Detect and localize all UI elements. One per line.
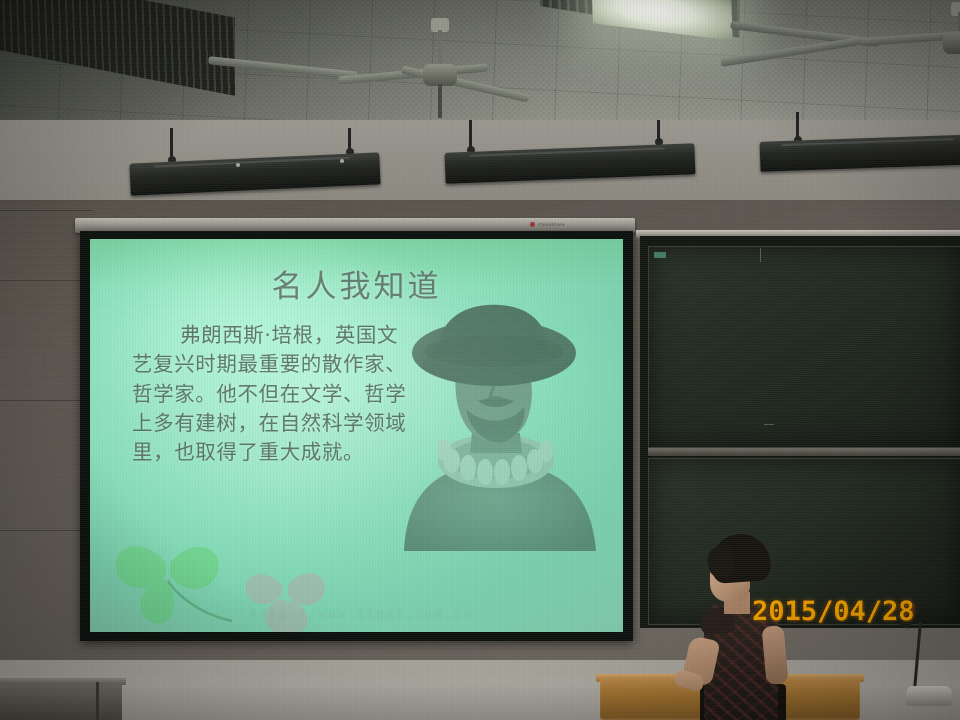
slide-body-text: 弗朗西斯·培根，英国文艺复兴时期最重要的散作家、哲学家。他不但在文学、哲学上多有… <box>132 321 412 468</box>
fan-motor-housing <box>943 32 960 54</box>
desk-edge <box>96 682 99 720</box>
chalk-mark <box>760 248 761 262</box>
wall-seam <box>0 280 90 281</box>
projection-screen-frame: 名人我知道 弗朗西斯·培根，英国文艺复兴时期最重要的散作家、哲学家。他不但在文学… <box>80 231 633 641</box>
fan-motor-housing <box>423 64 457 86</box>
ceiling-fan-left <box>290 18 590 110</box>
clover-green-icon <box>104 529 254 629</box>
brand-label: ChinaShare <box>538 222 565 227</box>
lamp-fixture-bar <box>444 143 695 184</box>
camera-timestamp: 2015/04/28 <box>752 596 915 627</box>
housing-brand-logo: ChinaShare <box>530 222 565 227</box>
student-right-arm <box>762 625 789 685</box>
brand-dot-icon <box>530 222 535 227</box>
wall-seam <box>0 530 84 531</box>
clover-pink-icon <box>238 561 338 632</box>
hanging-lamp-2 <box>445 120 695 192</box>
blackboard-panel-upper <box>648 246 960 448</box>
lamp-indicator <box>340 159 344 163</box>
wall-seam <box>0 210 92 211</box>
desk <box>0 682 122 720</box>
lamp-indicator <box>236 163 240 167</box>
hanging-lamp-1 <box>140 128 390 198</box>
wall-seam <box>0 400 86 401</box>
slide-title: 名人我知道 <box>90 261 623 306</box>
lamp-fixture-bar <box>760 134 960 172</box>
microphone-base <box>906 686 952 706</box>
projection-screen: 名人我知道 弗朗西斯·培根，英国文艺复兴时期最重要的散作家、哲学家。他不但在文学… <box>90 239 623 632</box>
ceiling-fan-right <box>830 2 960 88</box>
chalk-mark <box>764 424 774 425</box>
fan-lower-rod <box>438 84 442 118</box>
student-presenter <box>690 534 810 720</box>
francis-bacon-portrait <box>390 301 605 551</box>
hanging-lamp-3 <box>760 112 960 182</box>
blackboard-clip-icon <box>654 252 666 258</box>
classroom-photo: ChinaShare <box>0 0 960 720</box>
blackboard-divider-rail <box>648 448 960 456</box>
slide-watermark: http://www.51ppt.com.cn <box>250 607 474 621</box>
